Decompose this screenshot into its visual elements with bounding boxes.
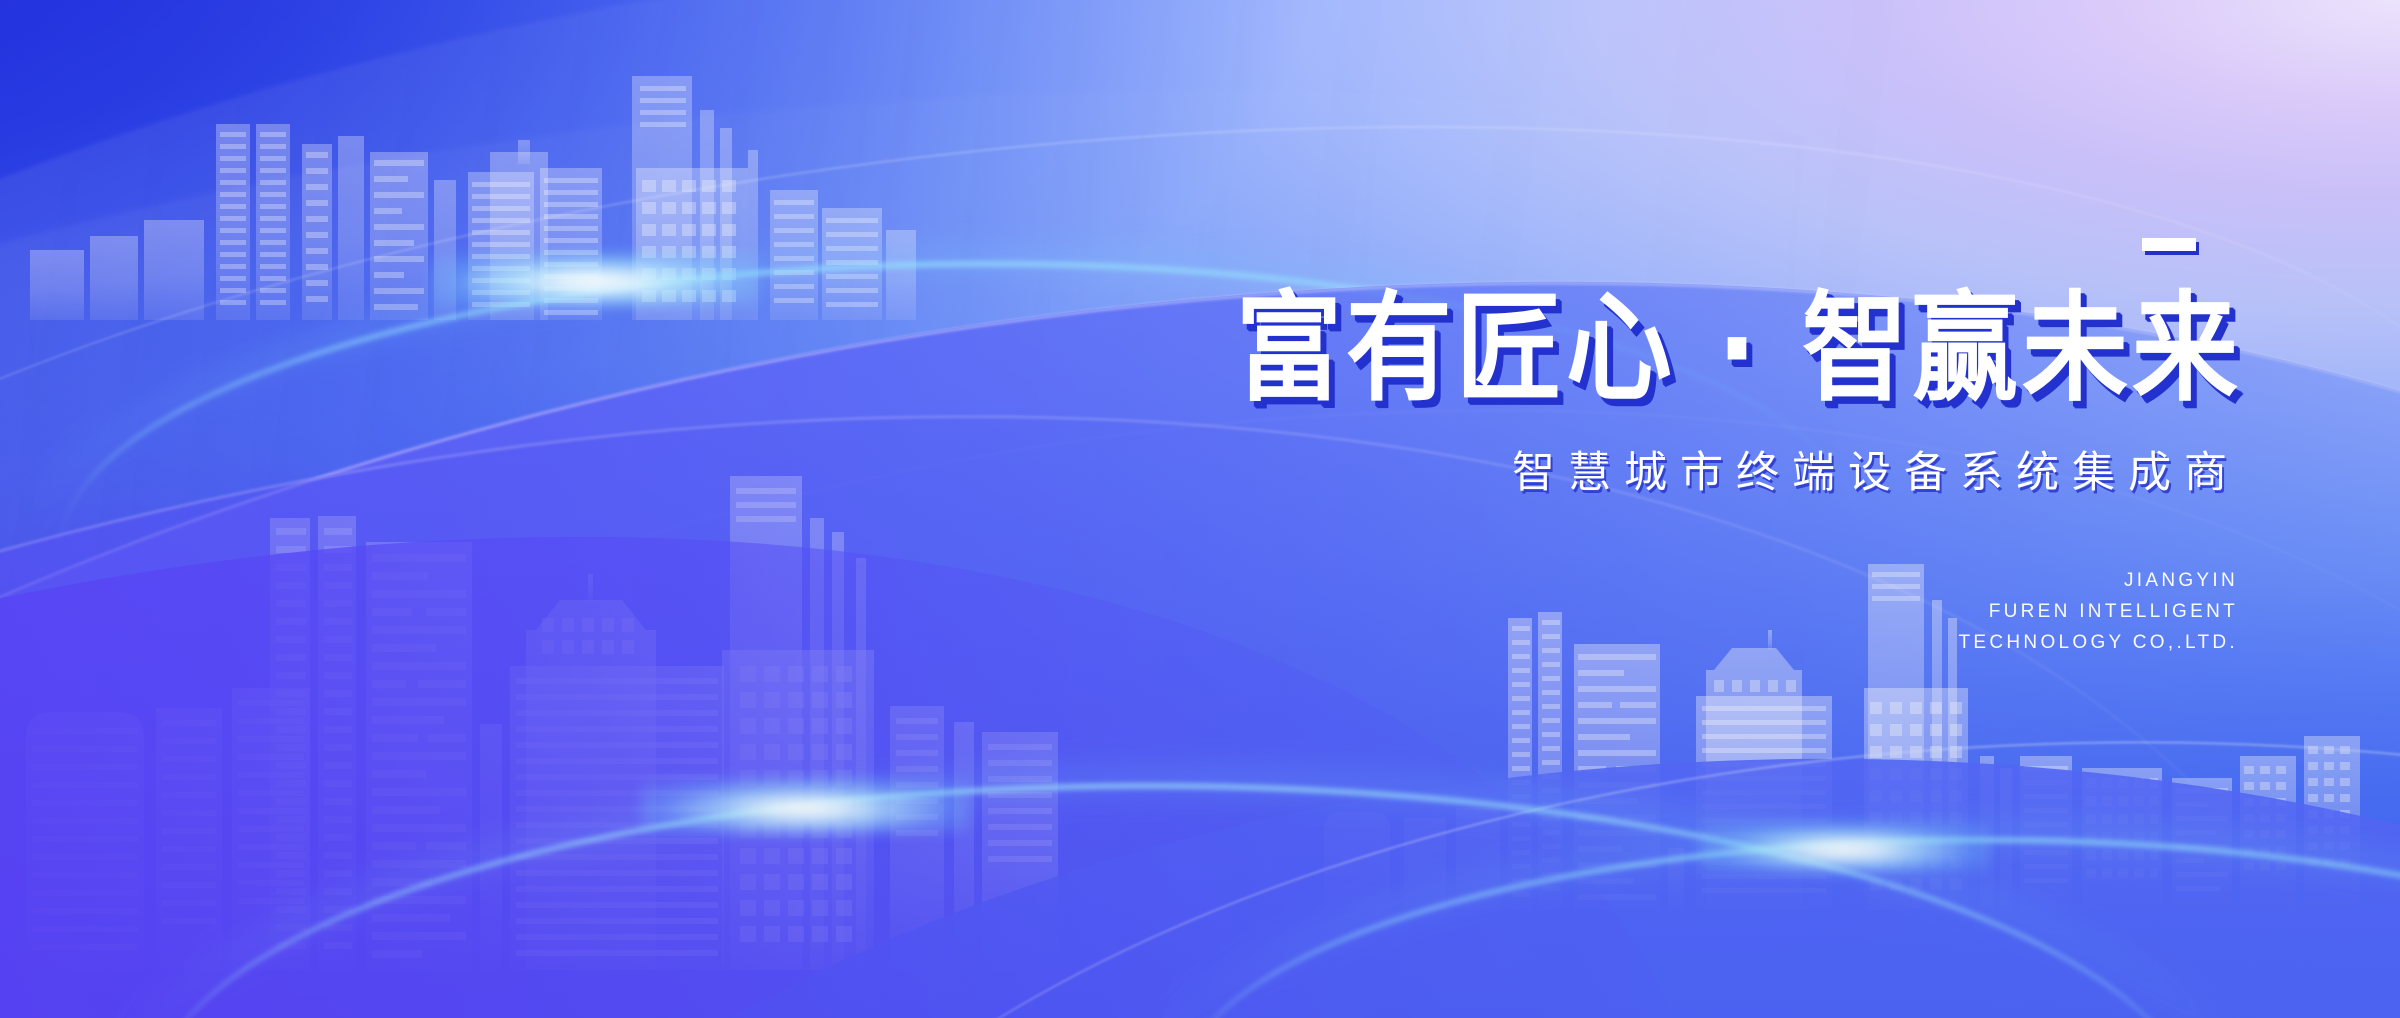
company-name-line-2: FUREN INTELLIGENT xyxy=(1062,597,2238,628)
glow-hotspot-lower-right xyxy=(1700,822,1990,872)
banner-headline: 富有匠心 · 智赢未来 xyxy=(1062,287,2242,410)
company-name-block: JIANGYIN FUREN INTELLIGENT TECHNOLOGY CO… xyxy=(1062,566,2242,658)
banner-text-block: 富有匠心 · 智赢未来 智慧城市终端设备系统集成商 JIANGYIN FUREN… xyxy=(1062,238,2242,659)
company-name-line-1: JIANGYIN xyxy=(1062,566,2238,597)
glow-hotspot-upper xyxy=(430,252,760,306)
banner-subtitle: 智慧城市终端设备系统集成商 xyxy=(1062,438,2242,500)
promotional-banner: 富有匠心 · 智赢未来 智慧城市终端设备系统集成商 JIANGYIN FUREN… xyxy=(0,0,2400,1018)
glow-hotspot-lower-left xyxy=(640,778,970,834)
company-name-line-3: TECHNOLOGY CO,.LTD. xyxy=(1062,628,2238,659)
accent-dash-mark xyxy=(2142,238,2196,251)
